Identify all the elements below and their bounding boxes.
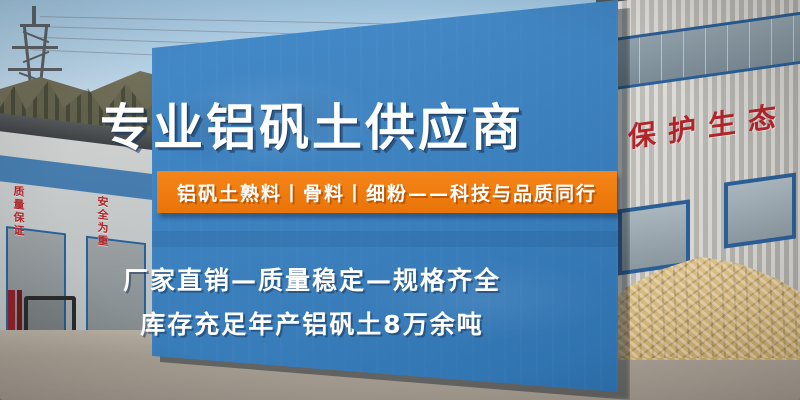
window bbox=[724, 172, 796, 248]
wall-sign-left-2: 安全为重 bbox=[94, 195, 110, 249]
ribbon-text: 铝矾土熟料丨骨料丨细粉——科技与品质同行 bbox=[177, 179, 597, 206]
promo-banner: 质量保证 安全为重 保护生态 专业铝矾土供 bbox=[0, 0, 800, 400]
subline-2: 库存充足年产铝矾土8万余吨 bbox=[0, 305, 624, 341]
page-title: 专业铝矾土供应商 bbox=[0, 88, 624, 160]
orange-ribbon: 铝矾土熟料丨骨料丨细粉——科技与品质同行 bbox=[157, 171, 617, 213]
wall-sign-left-1: 质量保证 bbox=[10, 184, 26, 238]
subline-1: 厂家直销—质量稳定—规格齐全 bbox=[0, 261, 624, 297]
